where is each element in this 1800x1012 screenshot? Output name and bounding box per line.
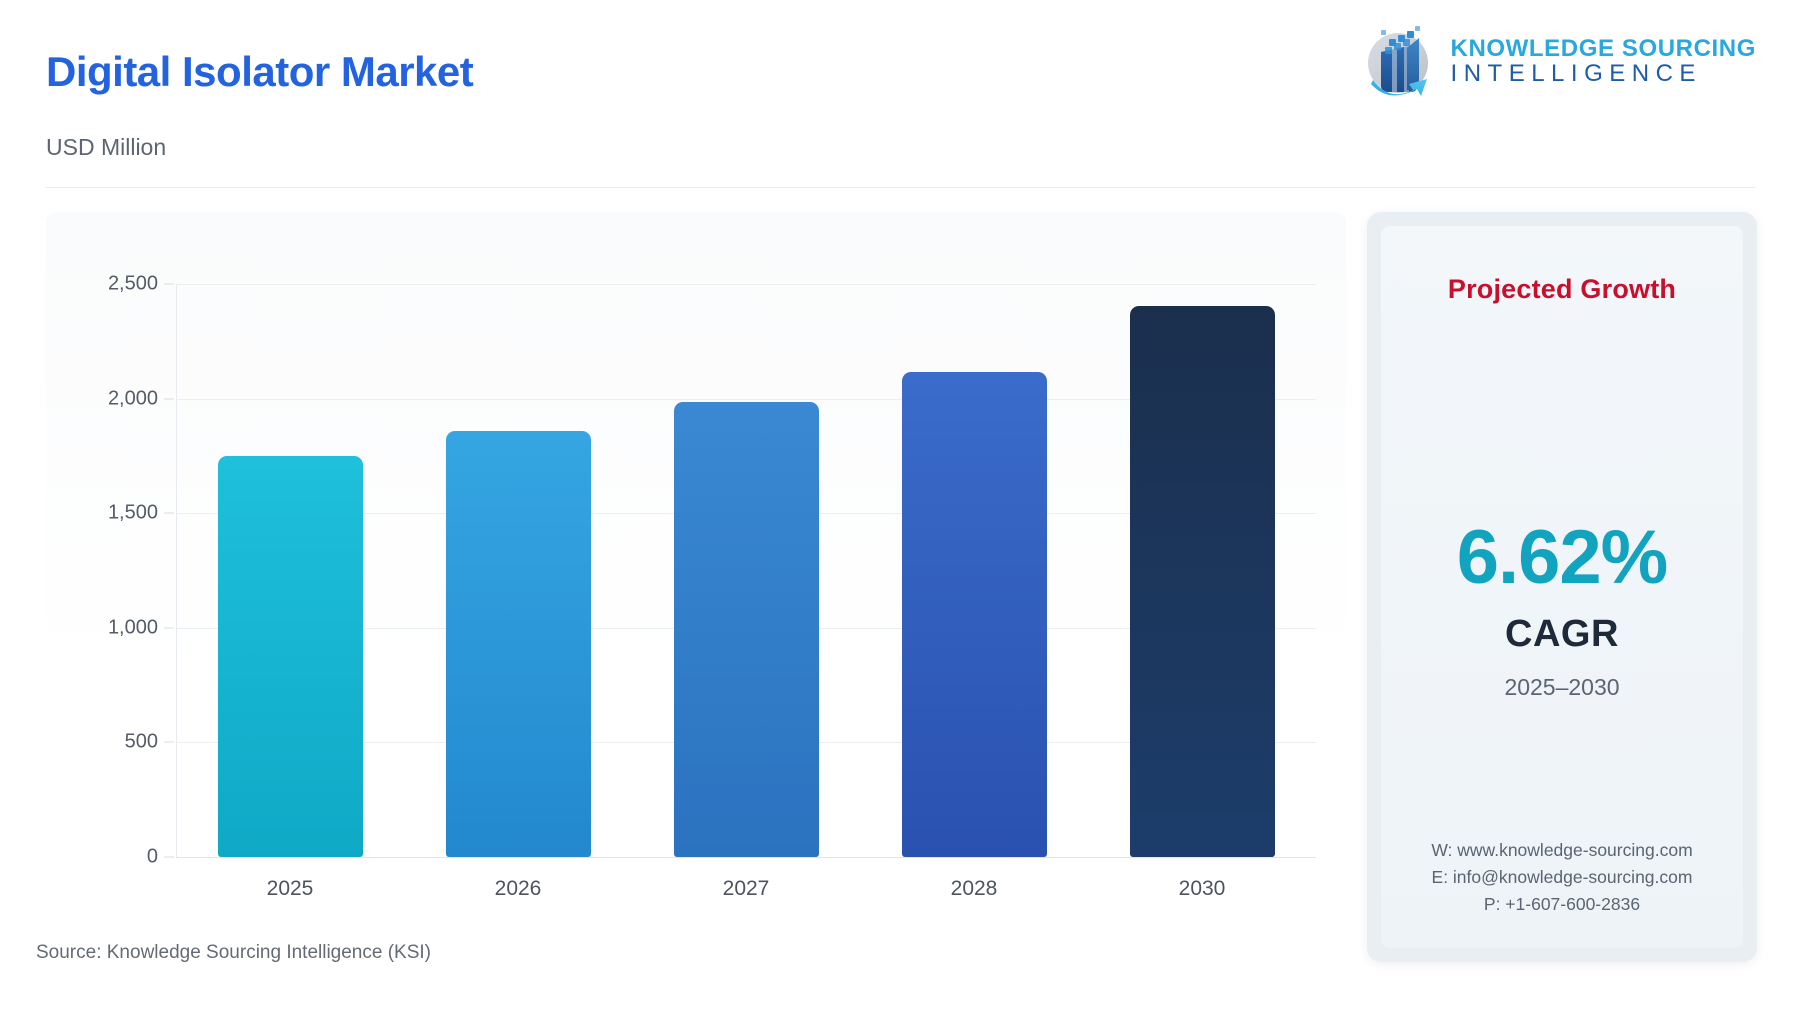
cagr-value: 6.62%: [1381, 514, 1743, 601]
x-axis-tick-label: 2025: [218, 877, 363, 901]
source-note: Source: Knowledge Sourcing Intelligence …: [36, 942, 431, 964]
projected-growth-inner: Projected Growth 6.62% CAGR 2025–2030 W:…: [1381, 226, 1743, 948]
header: Digital Isolator Market USD Million: [0, 0, 1800, 182]
contact-phone[interactable]: P: +1-607-600-2836: [1381, 891, 1743, 918]
bar-series: [176, 284, 1316, 857]
cagr-period: 2025–2030: [1381, 674, 1743, 701]
page-subtitle: USD Million: [46, 134, 166, 161]
bar-2027[interactable]: [674, 402, 819, 857]
cagr-label: CAGR: [1381, 613, 1743, 656]
y-axis-tick-mark: [164, 284, 174, 285]
infographic-page: Digital Isolator Market USD Million: [0, 0, 1800, 1012]
y-axis-tick-label: 1,000: [108, 616, 158, 639]
globe-bar-chart-arrow-icon: [1359, 22, 1437, 100]
contact-email[interactable]: E: info@knowledge-sourcing.com: [1381, 864, 1743, 891]
y-axis-tick-mark: [164, 513, 174, 514]
projected-growth-panel: Projected Growth 6.62% CAGR 2025–2030 W:…: [1367, 212, 1757, 962]
brand-logo: KNOWLEDGE SOURCING INTELLIGENCE: [1359, 22, 1756, 100]
y-axis-tick-label: 0: [147, 846, 158, 869]
x-axis-tick-label: 2027: [674, 877, 819, 901]
x-axis-labels: 20252026202720282030: [176, 877, 1316, 911]
bar-chart-card: 05001,0001,5002,0002,500 202520262027202…: [46, 212, 1346, 962]
header-divider: [46, 187, 1756, 188]
y-axis-tick-mark: [164, 857, 174, 858]
y-axis-tick-mark: [164, 742, 174, 743]
y-axis-tick-label: 2,000: [108, 387, 158, 410]
y-axis-tick-mark: [164, 398, 174, 399]
bar-2026[interactable]: [446, 431, 591, 857]
x-axis-tick-label: 2030: [1130, 877, 1275, 901]
x-axis-tick-label: 2028: [902, 877, 1047, 901]
gridline: [176, 857, 1316, 858]
bar-2030[interactable]: [1130, 306, 1275, 857]
bar-2028[interactable]: [902, 372, 1047, 857]
y-axis-tick-label: 2,500: [108, 273, 158, 296]
logo-text-secondary: INTELLIGENCE: [1451, 61, 1756, 86]
y-axis-tick-mark: [164, 627, 174, 628]
contact-website[interactable]: W: www.knowledge-sourcing.com: [1381, 837, 1743, 864]
y-axis-tick-label: 1,500: [108, 502, 158, 525]
page-title: Digital Isolator Market: [46, 48, 473, 96]
panel-title: Projected Growth: [1381, 274, 1743, 305]
bar-2025[interactable]: [218, 456, 363, 857]
contact-block: W: www.knowledge-sourcing.com E: info@kn…: [1381, 837, 1743, 918]
y-axis-labels: 05001,0001,5002,0002,500: [46, 284, 158, 857]
x-axis-tick-label: 2026: [446, 877, 591, 901]
logo-text-primary: KNOWLEDGE SOURCING: [1451, 36, 1756, 61]
y-axis-tick-label: 500: [125, 731, 158, 754]
